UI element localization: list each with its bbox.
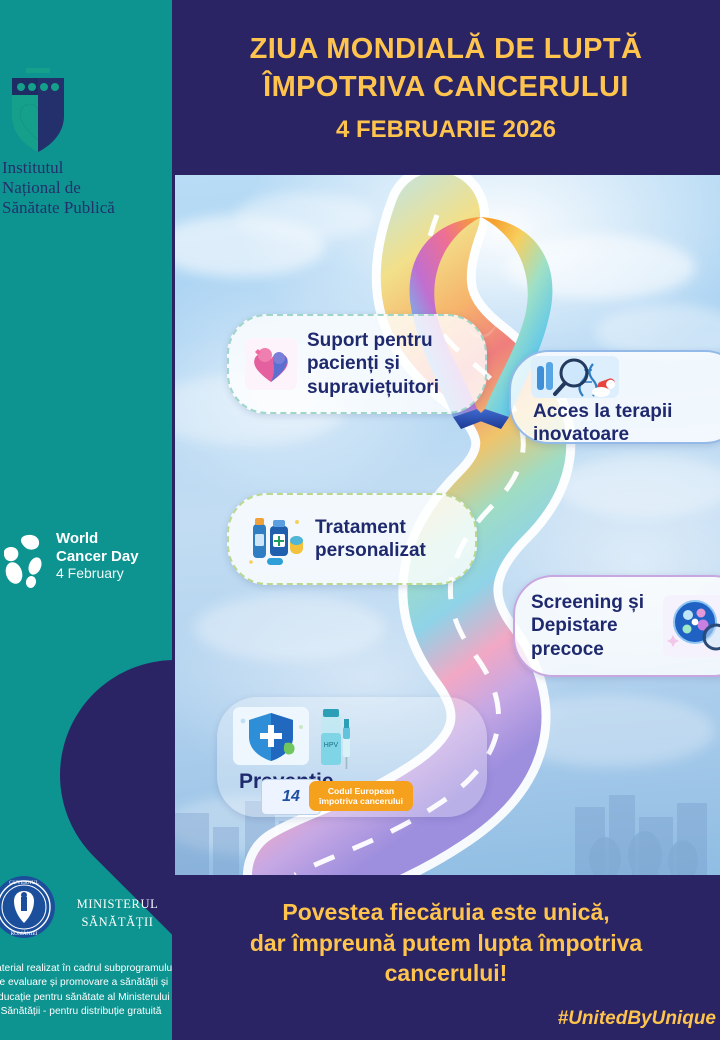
footer-line-3: cancerului! [385,958,508,989]
access-line-2: inovatoare [533,423,672,446]
people-heart-icon [245,338,297,390]
petri-dish-magnifier-icon [663,595,720,657]
eu-code-line-1: Codul European [328,786,394,796]
european-code-badge[interactable]: 14 Codul European împotriva cancerului [261,779,413,813]
insp-line-2: Național de [2,178,162,198]
support-line-1: Suport pentru [307,329,439,352]
wcd-text: World Cancer Day 4 February [56,530,139,582]
hpv-vaccine-vial-icon: HPV [315,707,359,773]
screening-line-3: precoce [531,638,663,661]
step-card-access[interactable]: Acces la terapii inovatoare [509,350,720,444]
ministry-line-1: MINISTERUL [60,896,172,914]
shield-cross-leaf-icon [233,707,309,765]
poster-root: Institutul Național de Sănătate Publică … [0,0,720,1040]
header-title-line-1: ZIUA MONDIALĂ DE LUPTĂ [250,31,643,68]
insp-name: Institutul Național de Sănătate Publică [2,158,162,218]
header-title-line-2: ÎMPOTRIVA CANCERULUI [263,69,629,106]
footnote-text: Material realizat în cadrul subprogramul… [0,962,172,1020]
illustration-panel: Suport pentru pacienți și supraviețuitor… [175,175,720,875]
treatment-line-2: personalizat [315,539,426,562]
step-label-support: Suport pentru pacienți și supraviețuitor… [307,329,439,399]
treatment-line-1: Tratament [315,516,426,539]
medicine-bottles-icon [245,508,307,570]
eu-code-line-2: împotriva cancerului [319,796,403,806]
eu-code-text: Codul European împotriva cancerului [309,781,413,811]
poster-footer: Povestea fiecăruia este unică, dar împre… [172,875,720,1040]
step-label-treatment: Tratament personalizat [315,516,426,562]
support-line-2: pacienți și [307,352,439,375]
step-card-support[interactable]: Suport pentru pacienți și supraviețuitor… [227,314,487,414]
insp-shield-logo [8,68,68,154]
step-label-access: Acces la terapii inovatoare [527,400,672,446]
wcd-line-2: Cancer Day [56,548,139,566]
romanian-government-seal-icon: GUVERNUL ROMÂNIEI [0,875,56,939]
wcd-line-3: 4 February [56,565,139,582]
step-card-treatment[interactable]: Tratament personalizat [227,493,477,585]
insp-line-1: Institutul [2,158,162,178]
screening-line-1: Screening și [531,591,663,614]
poster-header: ZIUA MONDIALĂ DE LUPTĂ ÎMPOTRIVA CANCERU… [172,0,720,175]
footer-line-1: Povestea fiecăruia este unică, [282,897,609,928]
world-cancer-day-logo: World Cancer Day 4 February [4,528,164,598]
step-label-screening: Screening și Depistare precoce [531,591,663,661]
svg-text:HPV: HPV [324,742,339,749]
svg-text:GUVERNUL: GUVERNUL [9,880,39,886]
step-card-screening[interactable]: Screening și Depistare precoce [513,575,720,677]
wcd-line-1: World [56,530,139,548]
svg-text:ROMÂNIEI: ROMÂNIEI [11,929,38,937]
ministry-line-2: SĂNĂTĂȚII [60,914,172,932]
ministry-name: MINISTERUL SĂNĂTĂȚII [60,896,172,931]
insp-line-3: Sănătate Publică [2,198,162,218]
campaign-hashtag: #UnitedByUnique [558,1008,716,1030]
header-date: 4 FEBRUARIE 2026 [336,116,556,144]
access-line-1: Acces la terapii [533,400,672,423]
screening-line-2: Depistare [531,614,663,637]
support-line-3: supraviețuitori [307,376,439,399]
left-sidebar: Institutul Național de Sănătate Publică … [0,0,172,1040]
magnifier-dna-pills-icon [531,356,619,398]
footer-line-2: dar împreună putem lupta împotriva [250,928,642,959]
wcd-people-icon [4,532,52,588]
